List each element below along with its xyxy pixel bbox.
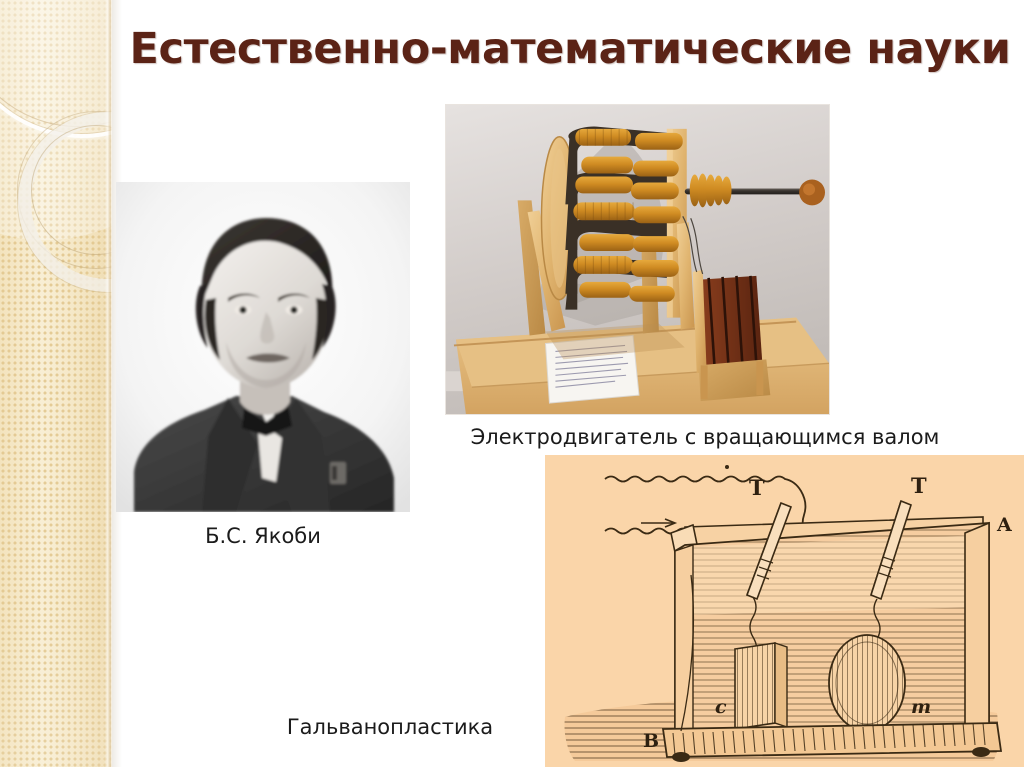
sidebar-ring-large-outline-icon bbox=[0, 0, 112, 127]
sidebar-ring-small-outer-icon bbox=[17, 111, 112, 269]
caption-portrait: Б.С. Якоби bbox=[116, 524, 410, 548]
label-base: B bbox=[643, 730, 659, 752]
label-vessel: A bbox=[996, 514, 1012, 536]
portrait-photo-jacobi bbox=[116, 182, 410, 512]
sidebar-ring-large-icon bbox=[0, 0, 112, 138]
decorative-sidebar bbox=[0, 0, 112, 767]
presentation-slide: Естественно-математические науки bbox=[0, 0, 1024, 767]
sidebar-ring-small-inner-icon bbox=[31, 125, 112, 255]
caption-electric-motor: Электродвигатель с вращающимся валом bbox=[445, 425, 965, 449]
label-electrode-left: T bbox=[749, 475, 765, 500]
label-electrode-right: T bbox=[911, 473, 927, 498]
sidebar-ring-small-icon bbox=[18, 112, 112, 292]
galvanoplastics-engraving: T T A c m B bbox=[545, 455, 1024, 767]
sidebar-glow-overlay bbox=[0, 0, 112, 767]
sidebar-edge-highlight bbox=[104, 0, 112, 767]
electric-motor-photo bbox=[445, 104, 830, 415]
label-cathode: c bbox=[715, 696, 727, 718]
label-anode: m bbox=[911, 696, 931, 718]
slide-title: Естественно-математические науки bbox=[128, 18, 1012, 80]
sidebar-swoosh-shape bbox=[0, 0, 112, 240]
caption-galvanoplastics: Гальванопластика bbox=[240, 715, 540, 739]
